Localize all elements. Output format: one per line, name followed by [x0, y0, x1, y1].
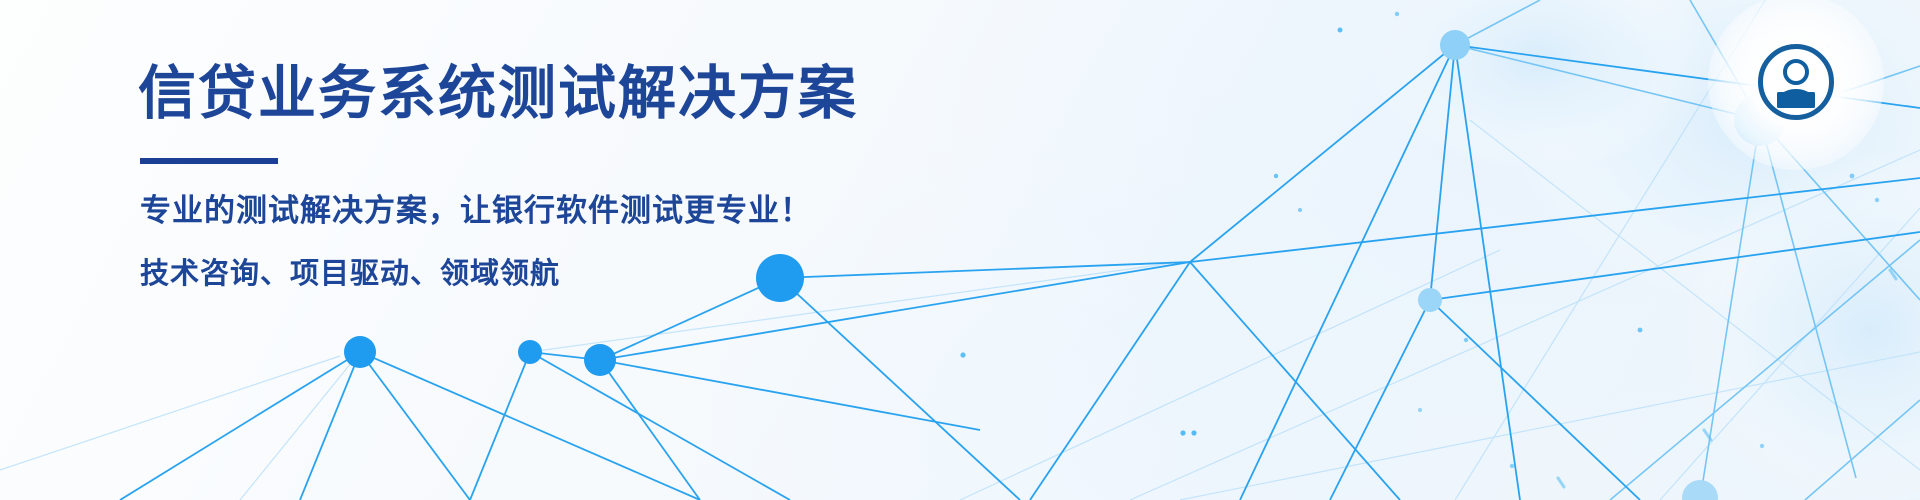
hero-banner: 信贷业务系统测试解决方案 专业的测试解决方案，让银行软件测试更专业！ 技术咨询、…	[0, 0, 1920, 500]
user-avatar-badge	[1742, 28, 1850, 136]
page-title: 信贷业务系统测试解决方案	[138, 58, 1058, 130]
user-avatar-icon	[1742, 28, 1850, 136]
subtitle-secondary: 技术咨询、项目驱动、领域领航	[140, 254, 1058, 294]
title-divider	[140, 158, 278, 164]
banner-copy: 信贷业务系统测试解决方案 专业的测试解决方案，让银行软件测试更专业！ 技术咨询、…	[138, 58, 1058, 294]
subtitle-primary: 专业的测试解决方案，让银行软件测试更专业！	[140, 190, 1058, 232]
